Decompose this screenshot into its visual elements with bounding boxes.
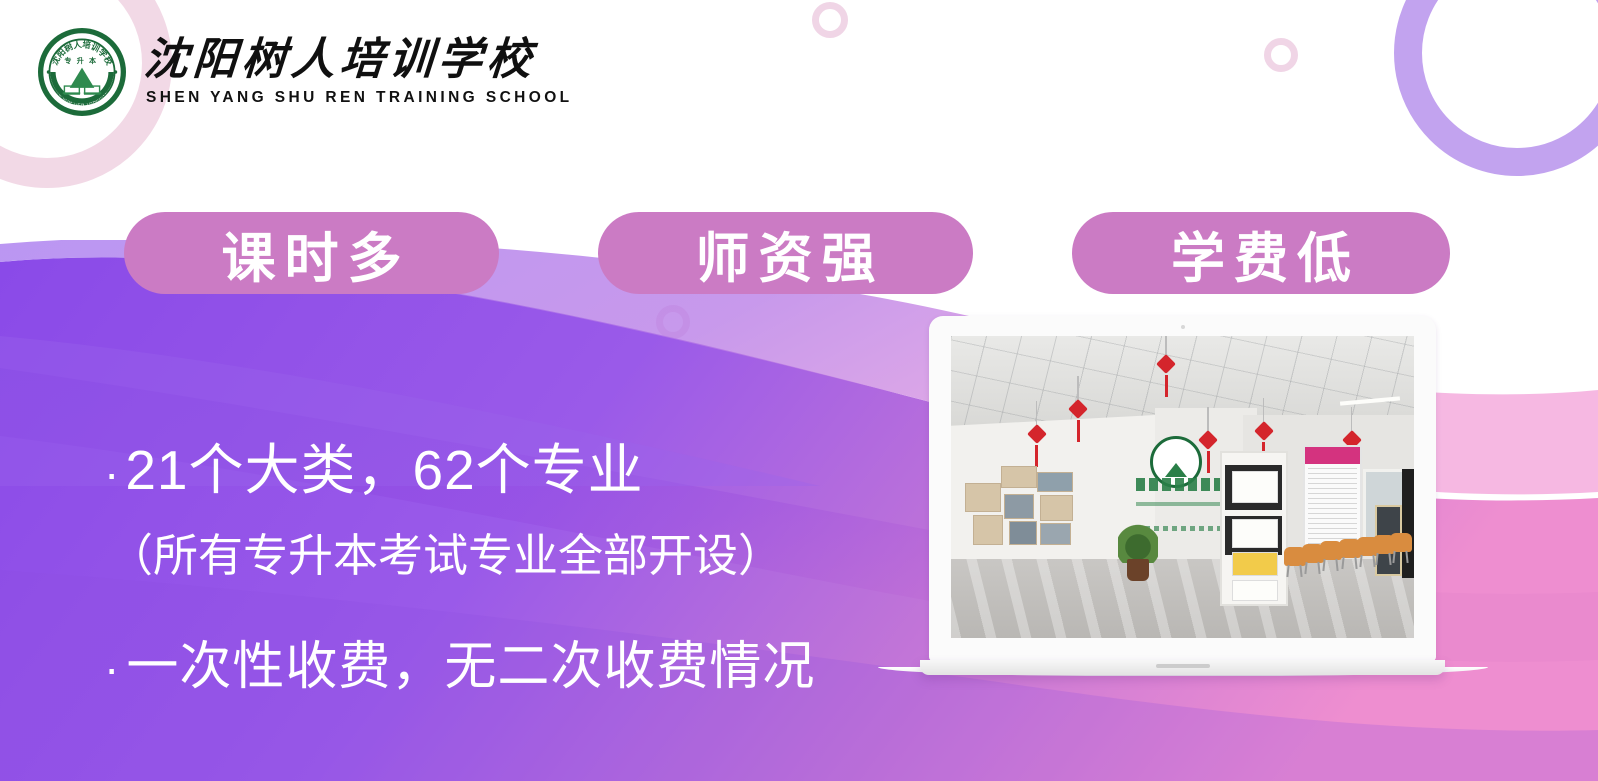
webcam-icon — [1181, 325, 1185, 329]
selling-points: · 21个大类，62个专业 （所有专升本考试专业全部开设） · 一次性收费，无二… — [104, 425, 904, 699]
svg-text:本: 本 — [89, 56, 97, 65]
decorative-dot-ring-1 — [812, 2, 848, 38]
selling-point-1-note: （所有专升本考试专业全部开设） — [108, 519, 904, 584]
svg-text:-2003-: -2003- — [72, 99, 93, 106]
school-lobby-photo — [951, 336, 1414, 638]
feature-pills: 课时多 师资强 学费低 — [0, 212, 1598, 294]
svg-text:升: 升 — [77, 56, 84, 65]
school-seal-icon: 沈阳树人培训学校 SHEN YANG SHU REN TRAINING SCHO… — [38, 28, 126, 116]
chinese-knot-icon-4 — [1201, 433, 1215, 473]
bullet-icon-2: · — [104, 645, 120, 691]
brand-header: 沈阳树人培训学校 SHEN YANG SHU REN TRAINING SCHO… — [38, 28, 573, 116]
brand-name-cn: 沈阳树人培训学校 — [142, 38, 574, 82]
pill-low-tuition[interactable]: 学费低 — [1072, 212, 1450, 294]
laptop-mockup — [920, 316, 1445, 696]
laptop-base — [920, 660, 1445, 675]
potted-plant — [1118, 523, 1158, 581]
selling-point-2: · 一次性收费，无二次收费情况 — [104, 624, 904, 699]
chinese-knot-icon-3 — [1159, 357, 1173, 397]
chinese-knot-icon-2 — [1071, 402, 1085, 442]
brand-name-en: SHEN YANG SHU REN TRAINING SCHOOL — [146, 90, 573, 106]
selling-point-2-text: 一次性收费，无二次收费情况 — [126, 624, 815, 699]
waiting-chairs — [1284, 547, 1404, 601]
pill-strong-faculty[interactable]: 师资强 — [598, 212, 973, 294]
photo-wall-display — [965, 463, 1095, 554]
laptop-lid — [929, 316, 1436, 661]
promo-banner: 沈阳树人培训学校 SHEN YANG SHU REN TRAINING SCHO… — [0, 0, 1598, 781]
certificate-shelf — [1220, 451, 1289, 606]
selling-point-1-text: 21个大类，62个专业 — [125, 425, 643, 505]
svg-text:专: 专 — [64, 56, 71, 65]
notice-board-header — [1305, 447, 1361, 464]
decorative-ring-top-right — [1394, 0, 1598, 176]
laptop-screen — [951, 336, 1414, 638]
decorative-dot-ring-2 — [1264, 38, 1298, 72]
bullet-icon-1: · — [104, 450, 119, 496]
selling-point-1: · 21个大类，62个专业 — [104, 425, 904, 505]
pill-more-class-hours[interactable]: 课时多 — [124, 212, 499, 294]
chinese-knot-icon-1 — [1030, 427, 1044, 467]
